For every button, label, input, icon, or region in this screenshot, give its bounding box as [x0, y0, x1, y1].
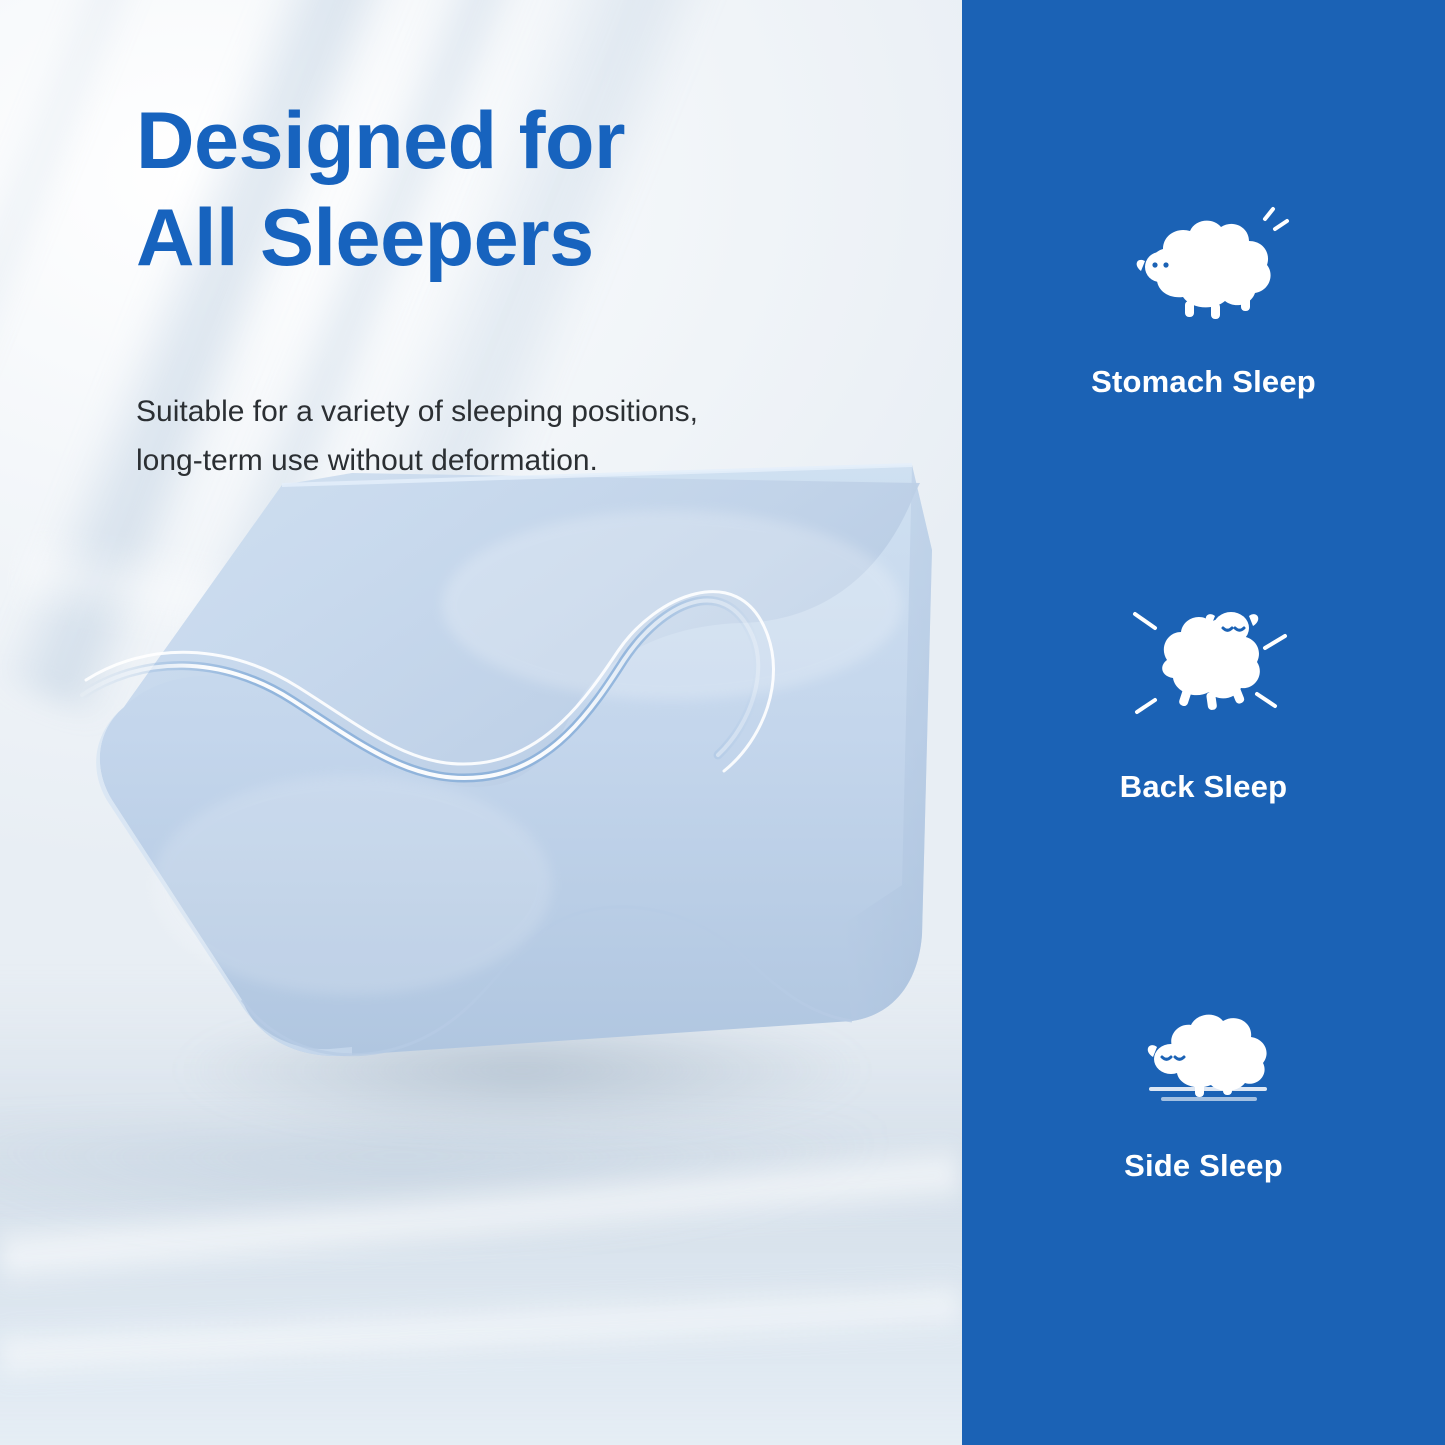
feature-label: Side Sleep: [1124, 1148, 1283, 1184]
sleep-positions-panel: Stomach Sleep: [962, 0, 1445, 1445]
subcopy-line-2: long-term use without deformation.: [136, 437, 876, 486]
product-feature-poster: Designed for All Sleepers Suitable for a…: [0, 0, 1445, 1445]
feature-label: Back Sleep: [1120, 769, 1287, 805]
sheep-stomach-sleep-icon: [1115, 205, 1293, 338]
feature-side-sleep: Side Sleep: [962, 997, 1445, 1184]
feature-back-sleep: Back Sleep: [962, 588, 1445, 805]
feature-label: Stomach Sleep: [1091, 364, 1316, 400]
pillow-illustration: [52, 455, 952, 1145]
subcopy-line-1: Suitable for a variety of sleeping posit…: [136, 388, 876, 437]
subcopy: Suitable for a variety of sleeping posit…: [136, 388, 876, 485]
contour-pillow: [52, 455, 952, 1145]
product-photo-area: Designed for All Sleepers Suitable for a…: [0, 0, 962, 1445]
feature-stomach-sleep: Stomach Sleep: [962, 205, 1445, 400]
headline-line-1: Designed for: [136, 96, 625, 186]
sheep-back-sleep-icon: [1115, 588, 1293, 743]
sheep-side-sleep-icon: [1115, 997, 1293, 1122]
headline-line-2: All Sleepers: [136, 197, 896, 280]
headline: Designed for All Sleepers: [136, 100, 896, 279]
